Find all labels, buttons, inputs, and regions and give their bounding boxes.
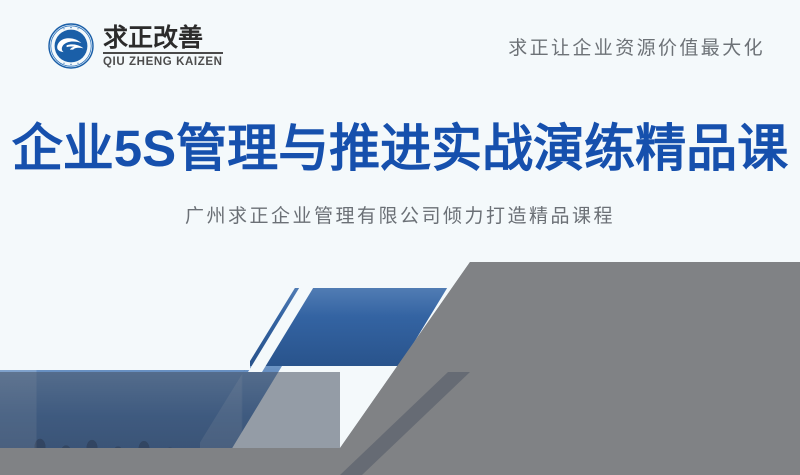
poster-header: 求正改善 QIU ZHENG KAIZEN 求正让企业资源价值最大化 <box>0 0 800 92</box>
brand-lockup: 求正改善 QIU ZHENG KAIZEN <box>48 23 223 69</box>
hero-title-block: 企业5S管理与推进实战演练精品课 广州求正企业管理有限公司倾力打造精品课程 <box>0 120 800 228</box>
poster-canvas: 求正改善 QIU ZHENG KAIZEN 求正让企业资源价值最大化 企业5S管… <box>0 0 800 475</box>
header-tagline: 求正让企业资源价值最大化 <box>508 33 765 60</box>
lower-left-photo <box>0 366 200 475</box>
photo-tile-lower-left-extension <box>0 366 200 475</box>
photo-collage <box>0 262 800 475</box>
brand-name-cn: 求正改善 <box>103 25 223 54</box>
hero-graphic <box>0 262 800 475</box>
brand-text-block: 求正改善 QIU ZHENG KAIZEN <box>103 25 223 68</box>
page-subtitle: 广州求正企业管理有限公司倾力打造精品课程 <box>0 201 800 228</box>
page-title: 企业5S管理与推进实战演练精品课 <box>0 120 800 178</box>
group-photo <box>180 262 520 371</box>
photo-tile-auditorium <box>660 283 800 372</box>
qiuzheng-circular-emblem-icon <box>48 23 94 69</box>
brand-name-en: QIU ZHENG KAIZEN <box>103 56 223 68</box>
auditorium-photo <box>660 283 800 372</box>
